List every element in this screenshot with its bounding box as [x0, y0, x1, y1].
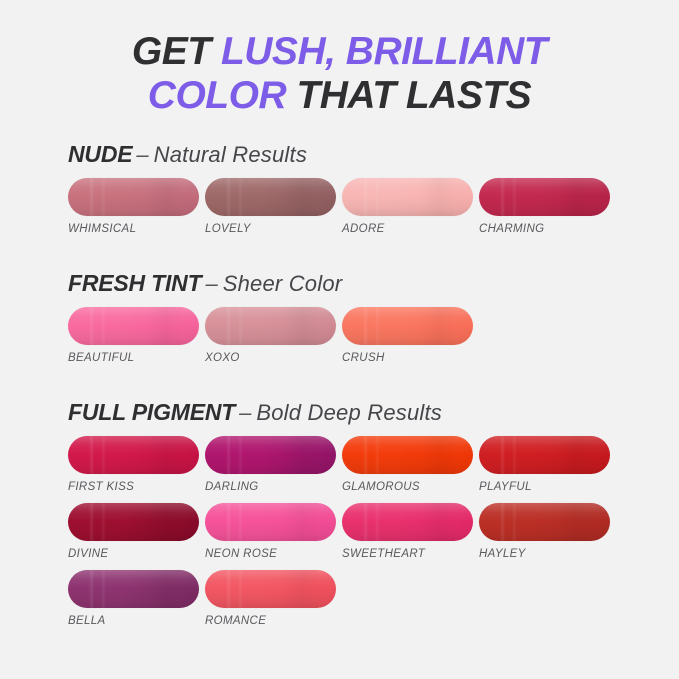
swatch-grid: FIRST KISSDARLINGGLAMOROUSPLAYFULDIVINEN…: [68, 436, 617, 637]
shade-swatch-cell[interactable]: ADORE: [342, 178, 476, 235]
shade-swatch-color[interactable]: [479, 178, 610, 216]
shade-swatch-label: SWEETHEART: [342, 548, 476, 560]
headline-line-1: GET LUSH, BRILLIANT: [0, 30, 679, 74]
shade-swatch-color[interactable]: [205, 503, 336, 541]
shade-swatch-color[interactable]: [342, 178, 473, 216]
shade-swatch-cell[interactable]: HAYLEY: [479, 503, 613, 560]
page-title: GET LUSH, BRILLIANT COLOR THAT LASTS: [0, 0, 679, 117]
shade-swatch-label: BELLA: [68, 615, 202, 627]
shade-swatch-cell[interactable]: DIVINE: [68, 503, 202, 560]
shade-swatch-color[interactable]: [479, 503, 610, 541]
shade-swatch-color[interactable]: [68, 178, 199, 216]
section-title: FULL PIGMENT: [68, 399, 235, 425]
section-heading: FULL PIGMENT–Bold Deep Results: [68, 401, 617, 424]
headline-text-that-lasts: THAT LASTS: [286, 74, 531, 117]
shade-swatch-color[interactable]: [68, 307, 199, 345]
shade-swatch-color[interactable]: [205, 178, 336, 216]
shade-swatch-cell[interactable]: WHIMSICAL: [68, 178, 202, 235]
swatch-grid: WHIMSICALLOVELYADORECHARMING: [68, 178, 617, 245]
shade-swatch-cell[interactable]: SWEETHEART: [342, 503, 476, 560]
shade-section: FRESH TINT–Sheer ColorBEAUTIFULXOXOCRUSH: [0, 272, 679, 374]
section-heading: FRESH TINT–Sheer Color: [68, 272, 617, 295]
headline-accent-lush-brilliant: LUSH, BRILLIANT: [221, 30, 547, 73]
section-dash: –: [136, 142, 148, 167]
section-subtitle: Natural Results: [154, 142, 307, 167]
headline-accent-color: COLOR: [148, 74, 286, 117]
shade-swatch-label: XOXO: [205, 352, 339, 364]
shade-swatch-color[interactable]: [205, 307, 336, 345]
shade-swatch-label: GLAMOROUS: [342, 481, 476, 493]
shade-swatch-color[interactable]: [68, 570, 199, 608]
shade-swatch-cell[interactable]: LOVELY: [205, 178, 339, 235]
shade-swatch-cell[interactable]: BEAUTIFUL: [68, 307, 202, 364]
shade-swatch-color[interactable]: [68, 436, 199, 474]
section-heading: NUDE–Natural Results: [68, 143, 617, 166]
shade-swatch-label: CHARMING: [479, 223, 613, 235]
shade-swatch-cell[interactable]: DARLING: [205, 436, 339, 493]
section-subtitle: Sheer Color: [223, 271, 343, 296]
shade-swatch-label: LOVELY: [205, 223, 339, 235]
headline-line-2: COLOR THAT LASTS: [0, 74, 679, 118]
shade-swatch-label: FIRST KISS: [68, 481, 202, 493]
shade-swatch-color[interactable]: [205, 570, 336, 608]
shade-swatch-label: NEON ROSE: [205, 548, 339, 560]
shade-swatch-cell[interactable]: GLAMOROUS: [342, 436, 476, 493]
shade-swatch-cell[interactable]: FIRST KISS: [68, 436, 202, 493]
section-subtitle: Bold Deep Results: [256, 400, 442, 425]
shade-swatch-cell[interactable]: CHARMING: [479, 178, 613, 235]
swatch-grid: BEAUTIFULXOXOCRUSH: [68, 307, 617, 374]
shade-swatch-color[interactable]: [342, 436, 473, 474]
headline-text-get: GET: [132, 30, 221, 73]
shade-swatch-cell[interactable]: PLAYFUL: [479, 436, 613, 493]
shade-section: FULL PIGMENT–Bold Deep ResultsFIRST KISS…: [0, 401, 679, 637]
shade-swatch-cell[interactable]: CRUSH: [342, 307, 476, 364]
section-title: FRESH TINT: [68, 270, 201, 296]
section-title: NUDE: [68, 141, 132, 167]
shade-swatch-cell[interactable]: NEON ROSE: [205, 503, 339, 560]
shade-swatch-color[interactable]: [205, 436, 336, 474]
shade-swatch-cell[interactable]: BELLA: [68, 570, 202, 627]
shade-swatch-label: DARLING: [205, 481, 339, 493]
shade-swatch-label: PLAYFUL: [479, 481, 613, 493]
shade-sections: NUDE–Natural ResultsWHIMSICALLOVELYADORE…: [0, 143, 679, 637]
section-dash: –: [239, 400, 251, 425]
section-dash: –: [205, 271, 217, 296]
shade-swatch-color[interactable]: [342, 307, 473, 345]
shade-swatch-label: CRUSH: [342, 352, 476, 364]
shade-swatch-label: DIVINE: [68, 548, 202, 560]
shade-section: NUDE–Natural ResultsWHIMSICALLOVELYADORE…: [0, 143, 679, 245]
shade-swatch-label: BEAUTIFUL: [68, 352, 202, 364]
shade-swatch-color[interactable]: [479, 436, 610, 474]
shade-swatch-label: ROMANCE: [205, 615, 339, 627]
shade-swatch-cell[interactable]: XOXO: [205, 307, 339, 364]
product-shade-chart: GET LUSH, BRILLIANT COLOR THAT LASTS NUD…: [0, 0, 679, 679]
shade-swatch-label: HAYLEY: [479, 548, 613, 560]
shade-swatch-color[interactable]: [342, 503, 473, 541]
shade-swatch-color[interactable]: [68, 503, 199, 541]
shade-swatch-label: ADORE: [342, 223, 476, 235]
shade-swatch-label: WHIMSICAL: [68, 223, 202, 235]
shade-swatch-cell[interactable]: ROMANCE: [205, 570, 339, 627]
